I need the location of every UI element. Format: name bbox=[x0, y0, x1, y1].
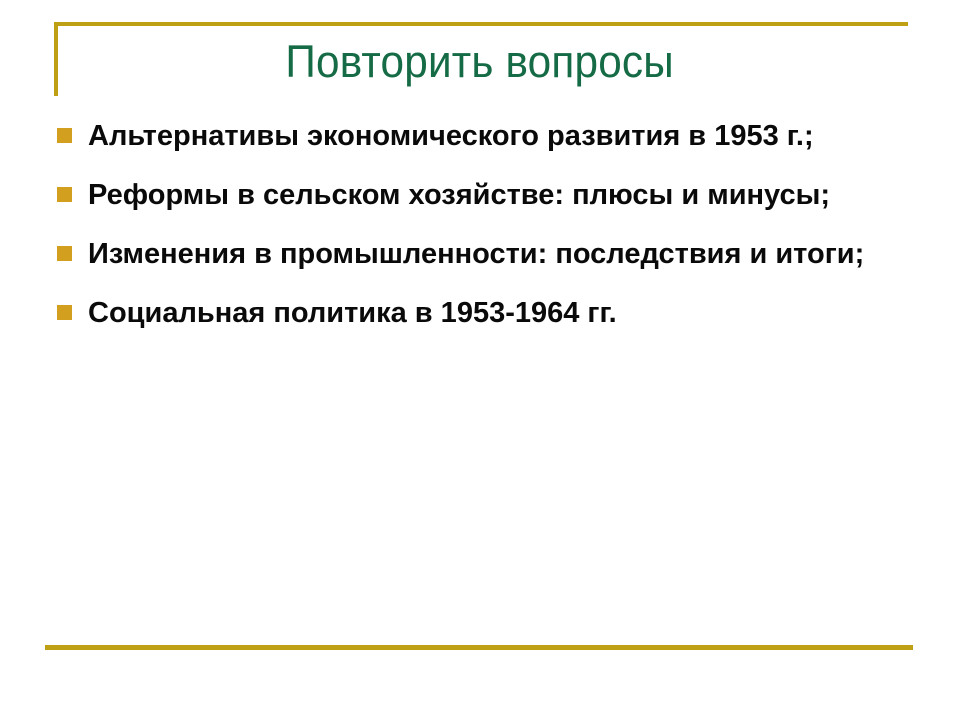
list-item: Изменения в промышленности: последствия … bbox=[40, 232, 930, 277]
list-item: Альтернативы экономического развития в 1… bbox=[40, 114, 930, 159]
square-bullet-icon bbox=[57, 305, 72, 320]
list-item: Социальная политика в 1953-1964 гг. bbox=[40, 291, 930, 336]
square-bullet-icon bbox=[57, 187, 72, 202]
slide-title-text: Повторить вопросы bbox=[286, 36, 674, 88]
bottom-gold-rule bbox=[45, 645, 913, 650]
list-item-label: Социальная политика в 1953-1964 гг. bbox=[88, 291, 930, 336]
list-item-label: Реформы в сельском хозяйстве: плюсы и ми… bbox=[88, 173, 930, 218]
list-item-label: Альтернативы экономического развития в 1… bbox=[88, 114, 930, 159]
slide-title: Повторить вопросы bbox=[0, 36, 960, 88]
slide-canvas: Повторить вопросы Альтернативы экономиче… bbox=[0, 0, 960, 720]
list-item: Реформы в сельском хозяйстве: плюсы и ми… bbox=[40, 173, 930, 218]
square-bullet-icon bbox=[57, 246, 72, 261]
list-item-label: Изменения в промышленности: последствия … bbox=[88, 232, 930, 277]
top-gold-rule bbox=[54, 22, 908, 26]
bullet-list: Альтернативы экономического развития в 1… bbox=[40, 114, 930, 336]
square-bullet-icon bbox=[57, 128, 72, 143]
